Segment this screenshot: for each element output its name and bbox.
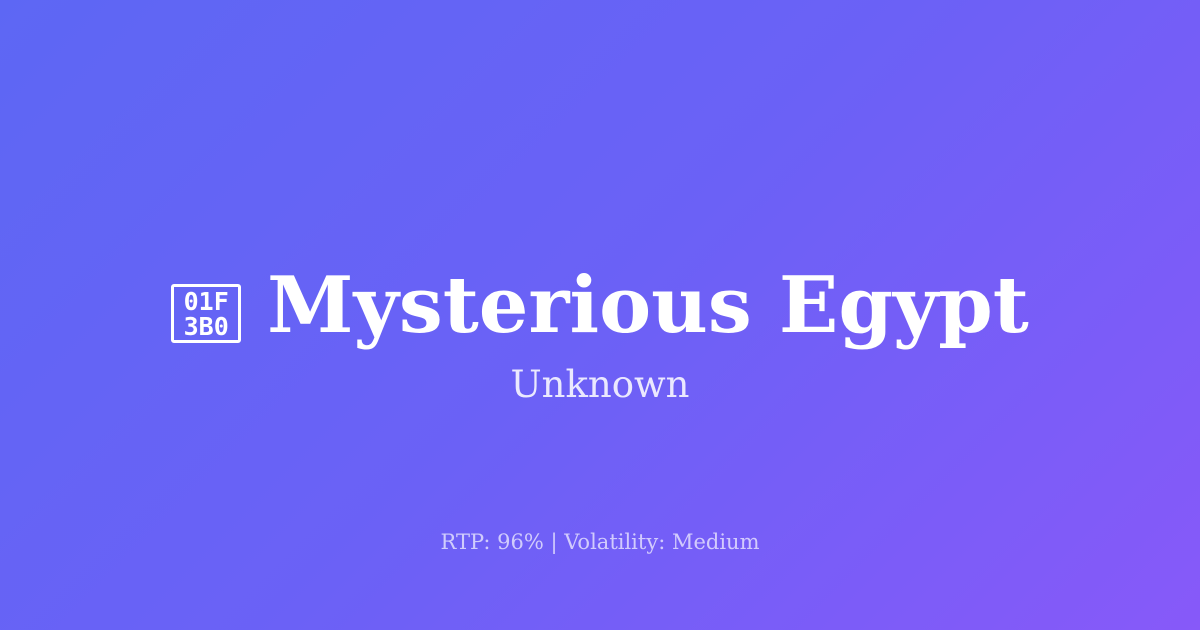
social-share-card: 01F 3B0 Mysterious Egypt Unknown RTP: 96… [0,0,1200,630]
game-stats-line: RTP: 96% | Volatility: Medium [0,528,1200,556]
card-subtitle: Unknown [0,362,1200,408]
tofu-codepoint-upper: 01F [184,289,229,314]
title-row: 01F 3B0 Mysterious Egypt [0,0,1200,345]
slot-machine-icon: 01F 3B0 [171,284,241,343]
page-title: Mysterious Egypt [267,267,1029,345]
tofu-codepoint-lower: 3B0 [184,314,229,339]
